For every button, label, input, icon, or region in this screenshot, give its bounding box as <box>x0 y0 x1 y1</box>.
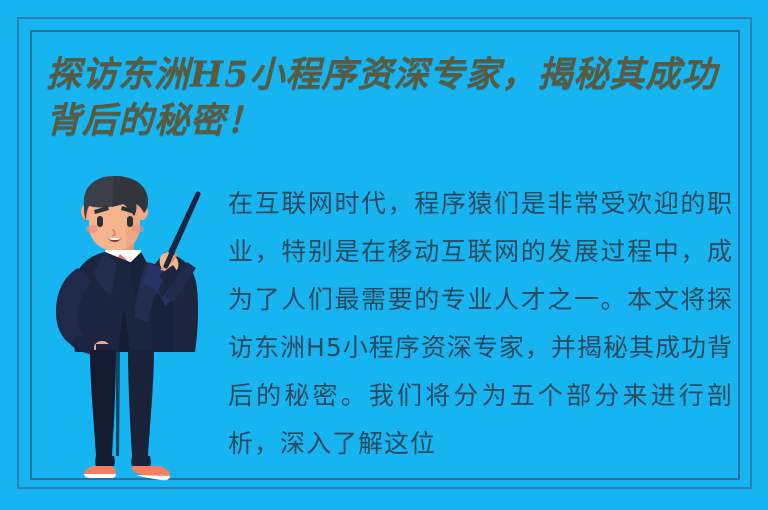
shoe-left-icon <box>84 466 116 478</box>
poster-canvas: 探访东洲H5小程序资深专家，揭秘其成功背后的秘密！ <box>0 0 768 510</box>
poster-title: 探访东洲H5小程序资深专家，揭秘其成功背后的秘密！ <box>46 52 736 144</box>
shoe-right-icon <box>132 466 170 480</box>
businessman-with-pointer-icon <box>50 172 225 487</box>
poster-body-text: 在互联网时代，程序猿们是非常受欢迎的职业，特别是在移动互联网的发展过程中，成为了… <box>228 180 733 480</box>
illustration-businessman <box>50 172 225 487</box>
